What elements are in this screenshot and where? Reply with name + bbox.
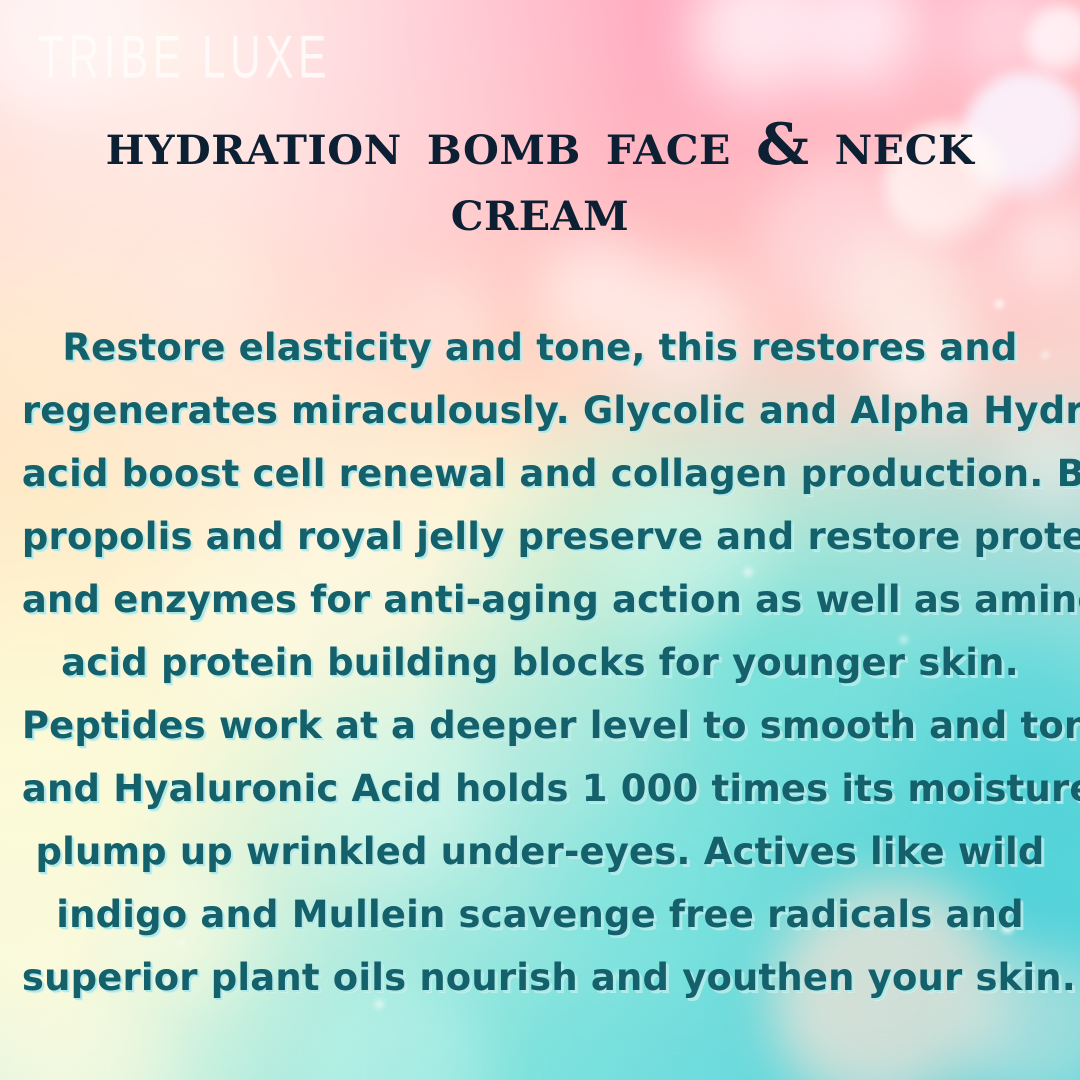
bokeh-orb: [20, 1000, 180, 1080]
description-line: acid protein building blocks for younger…: [22, 631, 1058, 694]
description-line: Restore elasticity and tone, this restor…: [22, 316, 1058, 379]
page-title-line-1: Hydration Bomb Face & Neck: [106, 111, 975, 178]
brand-logo: TRIBE LUXE: [38, 26, 331, 87]
description-line: and enzymes for anti-aging action as wel…: [22, 568, 1058, 631]
bokeh-orb: [995, 300, 1004, 309]
product-description: Restore elasticity and tone, this restor…: [0, 316, 1080, 1009]
description-line: acid boost cell renewal and collagen pro…: [22, 442, 1058, 505]
page-title-line-2: Cream: [451, 177, 630, 244]
description-line: indigo and Mullein scavenge free radical…: [22, 883, 1058, 946]
description-line: propolis and royal jelly preserve and re…: [22, 505, 1058, 568]
poster-canvas: TRIBE LUXE Hydration Bomb Face & Neck Cr…: [0, 0, 1080, 1080]
description-line: superior plant oils nourish and youthen …: [22, 946, 1058, 1009]
description-line: regenerates miraculously. Glycolic and A…: [22, 379, 1058, 442]
page-title: Hydration Bomb Face & Neck Cream: [0, 112, 1080, 244]
description-line: plump up wrinkled under-eyes. Actives li…: [22, 820, 1058, 883]
description-line: and Hyaluronic Acid holds 1 000 times it…: [22, 757, 1058, 820]
description-line: Peptides work at a deeper level to smoot…: [22, 694, 1058, 757]
